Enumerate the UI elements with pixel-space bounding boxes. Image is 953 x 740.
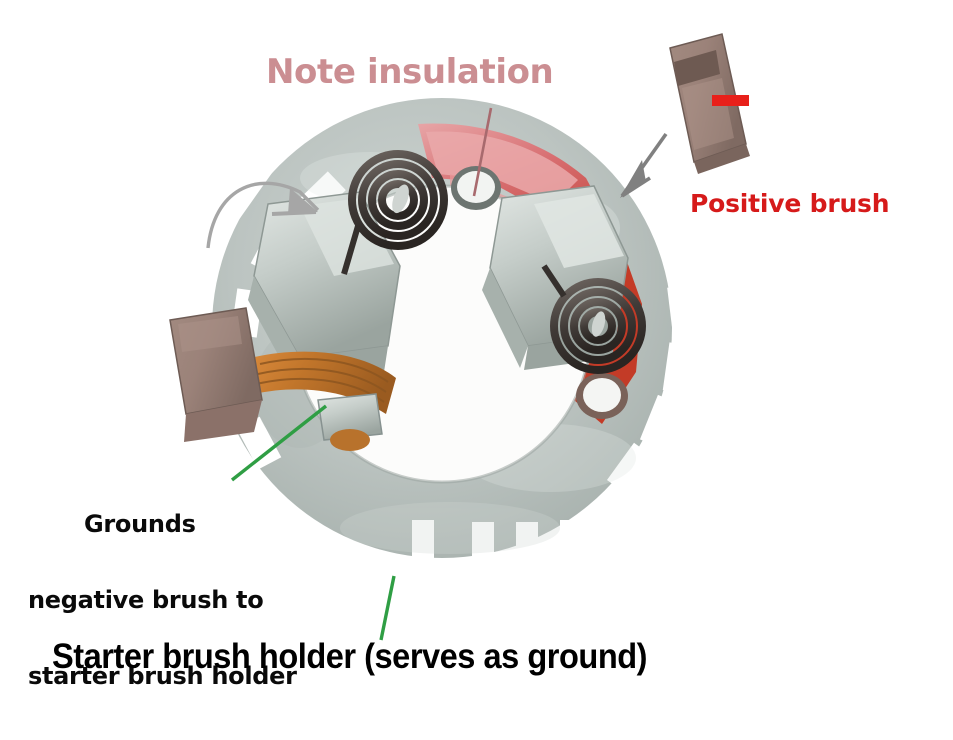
positive-brush-label: Positive brush — [690, 191, 889, 217]
image-canvas: Note insulation Positive brush Grounds n… — [0, 0, 953, 711]
grounds-note-line-2: negative brush to — [28, 588, 297, 613]
note-insulation-label: Note insulation — [266, 55, 553, 91]
grounds-note-label: Grounds negative brush to starter brush … — [28, 462, 297, 739]
bottom-caption-label: Starter brush holder (serves as ground) — [52, 639, 647, 676]
grounds-note-line-1: Grounds — [84, 512, 297, 537]
braid-crimp — [330, 429, 370, 451]
positive-brush-marker-bar — [712, 95, 749, 106]
